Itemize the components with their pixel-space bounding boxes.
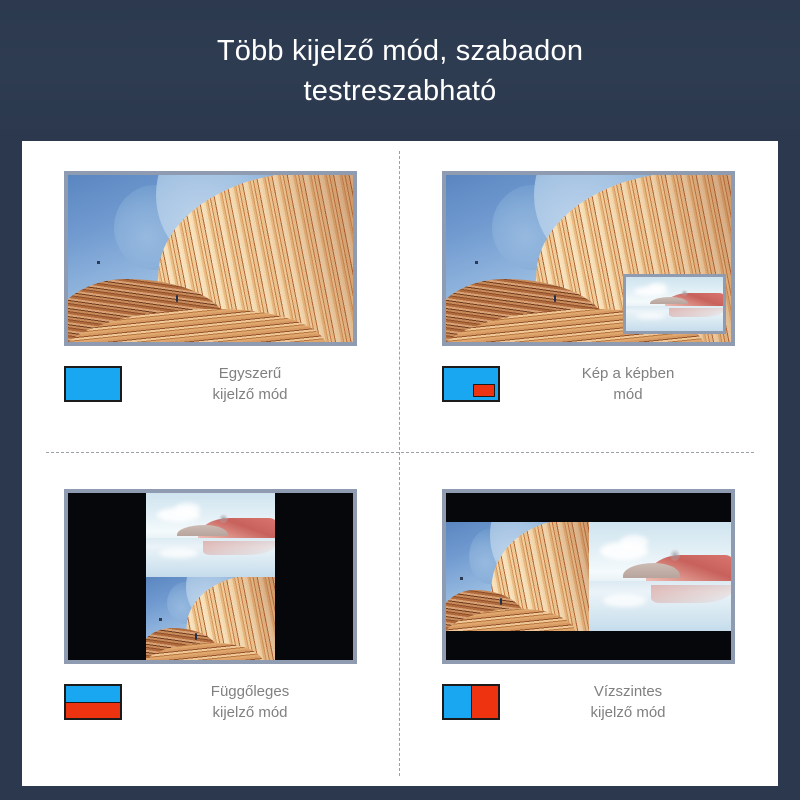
desert-wallpaper bbox=[68, 175, 353, 342]
cloud-shape bbox=[648, 283, 667, 291]
salt-flat-wallpaper bbox=[589, 522, 732, 631]
salt-flat-wallpaper bbox=[626, 277, 723, 331]
mode-card-horizontal[interactable]: Vízszintes kijelző mód bbox=[400, 463, 778, 785]
modes-card: Egyszerű kijelző mód bbox=[22, 141, 778, 786]
pip-inset-window[interactable] bbox=[623, 274, 726, 334]
pip-inset-content bbox=[626, 277, 723, 331]
blue-with-red-inset-icon bbox=[442, 366, 500, 402]
picture-in-picture-preview bbox=[446, 175, 731, 342]
mode-label-simple: Egyszerű kijelző mód bbox=[140, 363, 360, 405]
grey-hill bbox=[623, 563, 680, 577]
desert-wallpaper bbox=[446, 522, 589, 631]
cloud-shape bbox=[175, 503, 201, 515]
vertical-top-pane bbox=[146, 493, 274, 577]
bottom-letterbox-bar bbox=[446, 631, 731, 660]
cloud-reflection bbox=[603, 594, 646, 607]
swatch-blue-half bbox=[66, 686, 120, 702]
vertical-center-column bbox=[146, 493, 274, 660]
monitor-frame-horizontal bbox=[442, 489, 735, 664]
caption-vertical: Függőleges kijelző mód bbox=[64, 681, 360, 723]
mode-card-vertical[interactable]: Függőleges kijelző mód bbox=[22, 463, 400, 785]
walking-figure bbox=[554, 295, 556, 302]
monitor-frame-simple bbox=[64, 171, 357, 346]
horizontal-split-preview bbox=[446, 493, 731, 660]
horizontal-split-layout bbox=[446, 493, 731, 660]
right-pillarbox-bar bbox=[275, 493, 353, 660]
top-letterbox-bar bbox=[446, 493, 731, 522]
mode-card-simple[interactable]: Egyszerű kijelző mód bbox=[22, 141, 400, 463]
monitor-frame-vertical bbox=[64, 489, 357, 664]
page-title: Több kijelző mód, szabadon testreszabhat… bbox=[120, 31, 680, 111]
mode-card-picture-in-picture[interactable]: Kép a képben mód bbox=[400, 141, 778, 463]
walking-figure bbox=[195, 633, 197, 640]
vertical-bottom-pane bbox=[146, 577, 274, 661]
caption-simple: Egyszerű kijelző mód bbox=[64, 363, 360, 405]
swatch-red-half bbox=[66, 702, 120, 718]
mode-label-vertical: Függőleges kijelző mód bbox=[140, 681, 360, 723]
walking-figure bbox=[176, 295, 178, 302]
salt-flat-wallpaper bbox=[146, 493, 274, 577]
horizontal-left-pane bbox=[446, 522, 589, 631]
monitor-frame-pip bbox=[442, 171, 735, 346]
red-reflection bbox=[651, 585, 731, 602]
distant-figure bbox=[97, 261, 100, 264]
caption-picture-in-picture: Kép a képben mód bbox=[442, 363, 738, 405]
swatch-blue-half bbox=[444, 686, 471, 718]
mode-label-picture-in-picture: Kép a képben mód bbox=[518, 363, 738, 405]
vertical-split-preview bbox=[68, 493, 353, 660]
distant-figure bbox=[159, 618, 162, 621]
blue-over-red-icon bbox=[64, 684, 122, 720]
walking-figure bbox=[500, 598, 502, 605]
header-banner: Több kijelző mód, szabadon testreszabhat… bbox=[0, 0, 800, 141]
single-fullscreen-preview bbox=[68, 175, 353, 342]
horizontal-center-row bbox=[446, 522, 731, 631]
horizontal-right-pane bbox=[589, 522, 732, 631]
distant-figure bbox=[460, 577, 463, 580]
mode-label-horizontal: Vízszintes kijelző mód bbox=[518, 681, 738, 723]
cloud-reflection bbox=[159, 548, 197, 558]
caption-horizontal: Vízszintes kijelző mód bbox=[442, 681, 738, 723]
red-reflection bbox=[669, 308, 723, 317]
blue-beside-red-icon bbox=[442, 684, 500, 720]
red-inset-marker bbox=[473, 384, 495, 397]
red-reflection bbox=[203, 541, 275, 554]
grey-hill bbox=[650, 297, 689, 304]
vertical-split-layout bbox=[68, 493, 353, 660]
solid-blue-icon bbox=[64, 366, 122, 402]
cloud-reflection bbox=[636, 313, 665, 319]
distant-figure bbox=[475, 261, 478, 264]
bird-silhouette-icon bbox=[670, 549, 680, 561]
left-pillarbox-bar bbox=[68, 493, 146, 660]
desert-wallpaper bbox=[146, 577, 274, 661]
swatch-red-half bbox=[471, 686, 498, 718]
